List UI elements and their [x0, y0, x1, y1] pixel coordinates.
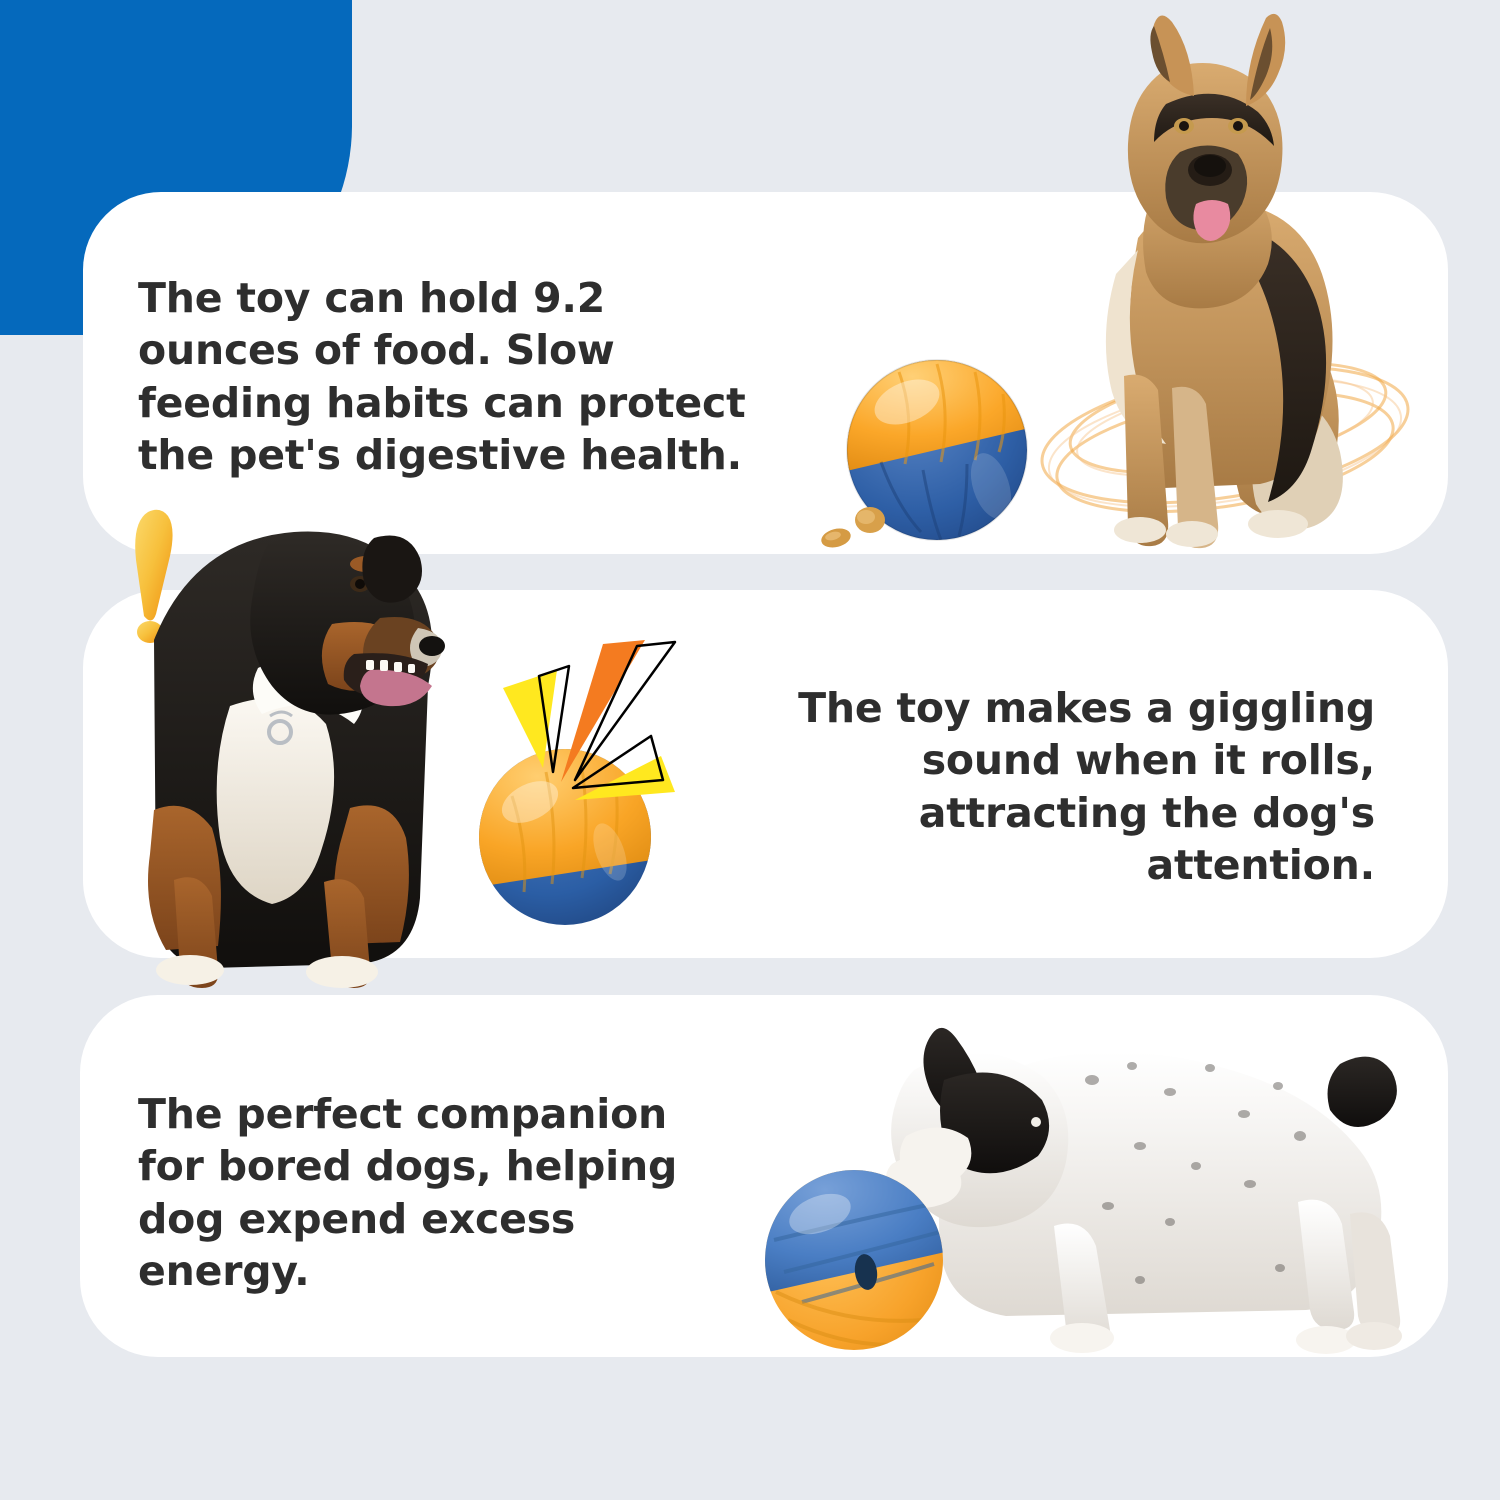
bernese-mountain-dog-photo — [118, 520, 448, 990]
feature-text-sound: The toy makes a giggling sound when it r… — [760, 682, 1375, 892]
feature-text-capacity: The toy can hold 9.2 ounces of food. Slo… — [138, 272, 758, 482]
feature-text-energy: The perfect companion for bored dogs, he… — [138, 1088, 698, 1298]
kibble-pieces — [818, 508, 898, 548]
infographic-page: The toy can hold 9.2 ounces of food. Slo… — [0, 0, 1500, 1500]
treat-ball-with-hole — [762, 1168, 947, 1353]
sound-spark-icons — [495, 640, 755, 870]
german-shepherd-photo — [1020, 8, 1420, 568]
